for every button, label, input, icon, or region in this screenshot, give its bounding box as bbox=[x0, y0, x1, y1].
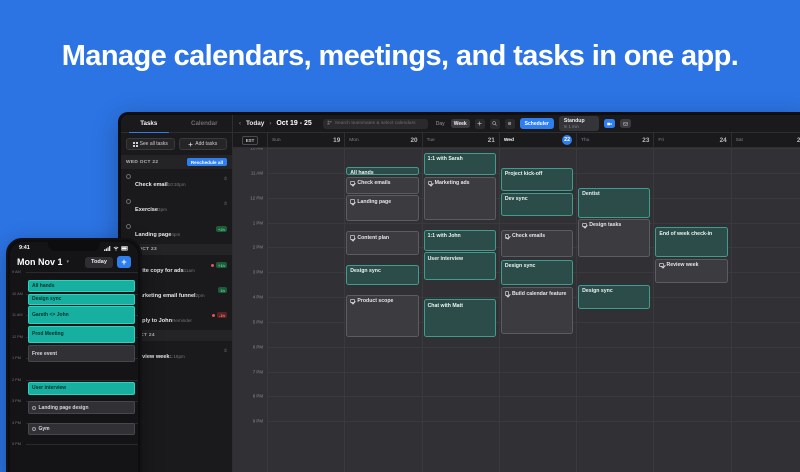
time-label: 4 PM bbox=[253, 295, 263, 300]
task-title: Marketing email funnel bbox=[135, 293, 196, 299]
task-time: 4pm bbox=[171, 232, 180, 237]
event-title: Design sync bbox=[505, 263, 536, 269]
prev-week-button[interactable]: ‹ bbox=[239, 121, 241, 127]
phone-hour-gridline bbox=[26, 272, 138, 273]
event-title: Review week bbox=[667, 262, 699, 268]
event-task-checkbox[interactable] bbox=[350, 181, 355, 186]
calendar-event[interactable]: Chat with Matt bbox=[424, 299, 496, 336]
search-input[interactable]: Search teammates & select calendars bbox=[323, 119, 428, 129]
phone-event-checkbox[interactable] bbox=[32, 427, 36, 431]
phone-event-title: Landing page design bbox=[39, 405, 89, 411]
day-number: 21 bbox=[488, 137, 495, 144]
event-task-checkbox[interactable] bbox=[582, 223, 587, 228]
task-meta: +2h bbox=[216, 226, 227, 232]
day-gridline bbox=[731, 148, 732, 472]
day-column-header[interactable]: Thu23 bbox=[576, 133, 653, 147]
task-duration-badge: +1h bbox=[216, 262, 227, 268]
task-title: Landing page bbox=[135, 232, 171, 238]
day-number: 22 bbox=[562, 135, 572, 145]
hour-gridline bbox=[267, 372, 800, 373]
search-placeholder: Search teammates & select calendars bbox=[335, 121, 416, 126]
phone-calendar-event[interactable]: Landing page design bbox=[28, 401, 135, 414]
day-name: Thu bbox=[581, 138, 589, 143]
day-number: 23 bbox=[642, 137, 649, 144]
calendar-event[interactable]: End of week check-in bbox=[655, 227, 727, 257]
signal-icon bbox=[104, 246, 111, 251]
day-gridline bbox=[344, 148, 345, 472]
event-title: Marketing ads bbox=[435, 180, 470, 186]
wifi-icon bbox=[113, 246, 119, 251]
calendar-event[interactable]: Landing page bbox=[346, 195, 418, 221]
phone-calendar-event[interactable]: Prod Meeting bbox=[28, 326, 135, 343]
phone-event-title: User interview bbox=[32, 385, 66, 391]
event-title: Project kick-off bbox=[505, 171, 542, 177]
task-item[interactable]: Landing page4pm+2h bbox=[121, 219, 232, 244]
event-title: Chat with Matt bbox=[428, 303, 463, 309]
view-toggle: Day Week bbox=[433, 119, 470, 128]
event-title: 1:1 with John bbox=[428, 233, 461, 239]
phone-time-label: 2 PM bbox=[12, 378, 21, 382]
chevron-down-icon[interactable]: ▾ bbox=[67, 259, 70, 265]
reschedule-all-button[interactable]: Reschedule all bbox=[187, 158, 227, 166]
phone-time-label: 12 PM bbox=[12, 335, 23, 339]
task-duration-badge: 1h bbox=[218, 287, 227, 293]
time-label: 12 PM bbox=[250, 195, 263, 200]
event-task-checkbox[interactable] bbox=[505, 234, 510, 239]
hour-gridline bbox=[267, 421, 800, 422]
day-column-header[interactable]: Sat25 bbox=[731, 133, 800, 147]
task-meta: ⏱ bbox=[224, 201, 227, 206]
hour-gridline bbox=[267, 223, 800, 224]
phone-calendar-event[interactable]: Design sync bbox=[28, 294, 135, 306]
task-time: 2pm bbox=[196, 293, 205, 298]
task-duration-badge: -1h bbox=[217, 312, 227, 318]
timezone-label[interactable]: EST bbox=[242, 136, 259, 145]
day-column-header[interactable]: Fri24 bbox=[653, 133, 730, 147]
day-name: Sat bbox=[736, 138, 743, 143]
day-number: 24 bbox=[720, 137, 727, 144]
hour-gridline bbox=[267, 347, 800, 348]
calendar-event[interactable]: Build calendar feature bbox=[501, 287, 573, 334]
day-name: Fri bbox=[658, 138, 664, 143]
calendar-event[interactable]: Check emails bbox=[501, 230, 573, 257]
duration-icon: ⏱ bbox=[224, 176, 227, 181]
day-column-header[interactable]: Mon20 bbox=[344, 133, 421, 147]
phone-notch bbox=[48, 242, 100, 251]
day-gridline bbox=[653, 148, 654, 472]
day-gridline bbox=[576, 148, 577, 472]
phone-time-label: 9 AM bbox=[12, 270, 21, 274]
time-label: 7 PM bbox=[253, 369, 263, 374]
calendar-event[interactable]: Design sync bbox=[578, 285, 650, 310]
event-title: Design tasks bbox=[589, 222, 621, 228]
calendar-event[interactable]: Dev sync bbox=[501, 193, 573, 217]
phone-hour-gridline bbox=[26, 444, 138, 445]
task-item[interactable]: Exercise3pm⏱ bbox=[121, 194, 232, 219]
phone-event-title: Free event bbox=[32, 351, 57, 357]
tablet-mockup: Tasks Calendar See all tasks Add tasks bbox=[118, 112, 800, 472]
join-video-button[interactable] bbox=[604, 119, 615, 128]
standup-meeting-card[interactable]: Standup In 1 min bbox=[559, 116, 599, 131]
email-button[interactable] bbox=[620, 119, 631, 128]
search-icon bbox=[492, 121, 497, 126]
day-name: Mon bbox=[349, 138, 358, 143]
see-all-tasks-button[interactable]: See all tasks bbox=[126, 138, 175, 150]
phone-calendar-event[interactable]: Gym bbox=[28, 423, 135, 436]
time-label: 11 AM bbox=[251, 170, 263, 175]
event-title: All hands bbox=[350, 170, 373, 175]
phone-hour-gridline bbox=[26, 380, 138, 381]
next-week-button[interactable]: › bbox=[269, 121, 271, 127]
calendar-event[interactable]: Design tasks bbox=[578, 219, 650, 257]
day-gridline bbox=[267, 148, 268, 472]
calendar-event[interactable]: 1:1 with John bbox=[424, 230, 496, 251]
day-number: 20 bbox=[410, 137, 417, 144]
day-gridline bbox=[499, 148, 500, 472]
task-title: Write copy for ads bbox=[135, 268, 184, 274]
grid-icon bbox=[133, 142, 138, 147]
task-item[interactable]: Check email10:30pm⏱ bbox=[121, 169, 232, 194]
task-title: Exercise bbox=[135, 207, 158, 213]
overdue-dot bbox=[211, 264, 214, 267]
calendar-event[interactable]: Check emails bbox=[346, 177, 418, 194]
phone-event-title: Gareth <> John bbox=[32, 312, 69, 318]
phone-calendar-event[interactable]: Gareth <> John bbox=[28, 306, 135, 323]
event-title: Dentist bbox=[582, 191, 600, 197]
day-name: Tue bbox=[427, 138, 435, 143]
phone-header: Mon Nov 1 ▾ Today + bbox=[10, 254, 138, 272]
phone-time-label: 1 PM bbox=[12, 356, 21, 360]
add-tasks-label: Add tasks bbox=[195, 141, 217, 147]
calendar-event[interactable]: Product scope bbox=[346, 295, 418, 337]
event-title: Dev sync bbox=[505, 196, 528, 202]
event-title: Design sync bbox=[350, 268, 381, 274]
day-gridline bbox=[422, 148, 423, 472]
phone-calendar-event[interactable]: Free event bbox=[28, 345, 135, 362]
plus-icon bbox=[188, 142, 193, 147]
phone-calendar-grid[interactable]: 9 AM10 AM11 AM12 PM1 PM2 PM3 PM4 PM5 PMA… bbox=[10, 272, 138, 457]
scheduler-button[interactable]: Scheduler bbox=[520, 118, 554, 129]
calendar-event[interactable]: Design sync bbox=[501, 260, 573, 285]
event-task-checkbox[interactable] bbox=[659, 263, 664, 268]
event-title: 1:1 with Sarah bbox=[428, 156, 463, 162]
phone-calendar-event[interactable]: User interview bbox=[28, 382, 135, 395]
view-week-button[interactable]: Week bbox=[451, 119, 470, 128]
timezone-cell: EST bbox=[233, 133, 267, 147]
task-time: 1:15pm bbox=[170, 354, 185, 359]
mail-icon bbox=[623, 122, 628, 126]
see-all-tasks-label: See all tasks bbox=[140, 141, 168, 147]
calendar-grid[interactable]: 10 AM11 AM12 PM1 PM2 PM3 PM4 PM5 PM6 PM7… bbox=[233, 148, 800, 472]
people-icon bbox=[327, 120, 332, 127]
phone-time-label: 11 AM bbox=[12, 313, 22, 317]
time-label: 8 PM bbox=[253, 394, 263, 399]
calendar-day-header: EST Sun19Mon20Tue21Wed22Thu23Fri24Sat25 bbox=[233, 133, 800, 148]
time-label: 3 PM bbox=[253, 270, 263, 275]
task-title: Check email bbox=[135, 182, 168, 188]
event-title: Build calendar feature bbox=[512, 291, 566, 297]
page-headline: Manage calendars, meetings, and tasks in… bbox=[0, 40, 800, 73]
video-icon bbox=[607, 122, 612, 126]
event-task-checkbox[interactable] bbox=[350, 299, 355, 304]
phone-event-checkbox[interactable] bbox=[32, 406, 36, 410]
day-column-header[interactable]: Sun19 bbox=[267, 133, 344, 147]
battery-icon bbox=[121, 246, 129, 251]
calendar-event[interactable]: Review week bbox=[655, 259, 727, 284]
event-title: Check emails bbox=[357, 180, 390, 186]
time-label: 2 PM bbox=[253, 245, 263, 250]
event-task-checkbox[interactable] bbox=[428, 181, 433, 186]
event-title: Design sync bbox=[582, 288, 613, 294]
standup-subtitle: In 1 min bbox=[564, 124, 594, 129]
day-name: Sun bbox=[272, 138, 281, 143]
task-checkbox[interactable] bbox=[126, 224, 131, 229]
plus-icon bbox=[477, 121, 482, 126]
day-column-header[interactable]: Wed22 bbox=[499, 133, 576, 147]
phone-event-title: Gym bbox=[39, 426, 50, 432]
phone-clock: 9:41 bbox=[19, 245, 30, 251]
phone-time-label: 3 PM bbox=[12, 399, 21, 403]
phone-status-icons bbox=[104, 246, 129, 251]
overdue-dot bbox=[212, 314, 215, 317]
task-time: 11am bbox=[184, 268, 195, 273]
today-button[interactable]: Today bbox=[246, 120, 264, 127]
duration-icon: ⏱ bbox=[224, 201, 227, 206]
phone-date-label[interactable]: Mon Nov 1 bbox=[17, 257, 63, 267]
event-title: Landing page bbox=[357, 199, 391, 205]
add-tasks-button[interactable]: Add tasks bbox=[179, 138, 228, 150]
calendar-event[interactable]: 1:1 with Sarah bbox=[424, 153, 496, 175]
task-checkbox[interactable] bbox=[126, 199, 131, 204]
hour-gridline bbox=[267, 148, 800, 149]
day-number: 19 bbox=[333, 137, 340, 144]
calendar-event[interactable]: Project kick-off bbox=[501, 168, 573, 192]
phone-time-label: 5 PM bbox=[12, 442, 21, 446]
task-meta: ⏱ bbox=[224, 176, 227, 181]
calendar-event[interactable]: User interview bbox=[424, 252, 496, 279]
phone-event-title: All hands bbox=[32, 283, 55, 289]
gear-icon bbox=[507, 121, 512, 126]
time-label: 6 PM bbox=[253, 344, 263, 349]
calendar-toolbar: ‹ Today › Oct 19 - 25 Search teammates &… bbox=[233, 115, 800, 133]
phone-add-button[interactable]: + bbox=[117, 256, 131, 268]
time-label: 9 PM bbox=[253, 419, 263, 424]
time-label: 10 AM bbox=[251, 148, 263, 151]
task-action-buttons: See all tasks Add tasks bbox=[121, 133, 232, 155]
calendar-panel: ‹ Today › Oct 19 - 25 Search teammates &… bbox=[233, 115, 800, 472]
tab-calendar[interactable]: Calendar bbox=[177, 115, 233, 132]
task-meta: +1h bbox=[211, 262, 227, 268]
settings-button[interactable] bbox=[505, 119, 515, 129]
event-title: Content plan bbox=[357, 235, 389, 241]
duration-icon: ⏱ bbox=[224, 348, 227, 353]
day-name: Wed bbox=[504, 138, 514, 143]
day-column-header[interactable]: Tue21 bbox=[422, 133, 499, 147]
date-range-label: Oct 19 - 25 bbox=[276, 120, 311, 127]
event-title: Product scope bbox=[357, 298, 393, 304]
task-time: Reminder bbox=[172, 318, 192, 323]
calendar-event[interactable]: Dentist bbox=[578, 188, 650, 218]
calendar-event[interactable]: Content plan bbox=[346, 231, 418, 255]
phone-calendar-event[interactable]: All hands bbox=[28, 280, 135, 293]
phone-today-button[interactable]: Today bbox=[85, 257, 113, 268]
event-title: Check emails bbox=[512, 233, 545, 239]
view-day-button[interactable]: Day bbox=[433, 119, 448, 128]
calendar-event[interactable]: Marketing ads bbox=[424, 177, 496, 220]
task-meta: 1h bbox=[218, 287, 227, 293]
calendar-event[interactable]: All hands bbox=[346, 167, 418, 176]
time-axis: 10 AM11 AM12 PM1 PM2 PM3 PM4 PM5 PM6 PM7… bbox=[233, 148, 267, 472]
event-task-checkbox[interactable] bbox=[505, 291, 510, 296]
task-meta: -1h bbox=[212, 312, 227, 318]
phone-event-title: Design sync bbox=[32, 296, 61, 302]
sidebar-tabs: Tasks Calendar bbox=[121, 115, 232, 133]
task-time: 3pm bbox=[158, 207, 167, 212]
task-checkbox[interactable] bbox=[126, 174, 131, 179]
phone-time-label: 4 PM bbox=[12, 421, 21, 425]
event-task-checkbox[interactable] bbox=[350, 199, 355, 204]
calendar-event[interactable]: Design sync bbox=[346, 265, 418, 285]
event-title: User interview bbox=[428, 256, 463, 262]
task-group-header: WED OCT 22Reschedule all bbox=[121, 155, 232, 169]
task-meta: ⏱ bbox=[224, 348, 227, 353]
add-event-button[interactable] bbox=[475, 119, 485, 129]
task-duration-badge: +2h bbox=[216, 226, 227, 232]
task-time: 10:30pm bbox=[168, 182, 186, 187]
time-label: 5 PM bbox=[253, 319, 263, 324]
phone-mockup: 9:41 Mon Nov 1 ▾ Today + 9 AM10 AM11 AM1… bbox=[6, 238, 142, 472]
tab-tasks[interactable]: Tasks bbox=[121, 115, 177, 132]
phone-time-label: 10 AM bbox=[12, 292, 23, 296]
phone-event-title: Prod Meeting bbox=[32, 331, 64, 337]
hour-gridline bbox=[267, 396, 800, 397]
event-title: End of week check-in bbox=[659, 231, 712, 237]
event-task-checkbox[interactable] bbox=[350, 235, 355, 240]
task-group-label: WED OCT 22 bbox=[126, 160, 158, 165]
search-button[interactable] bbox=[490, 119, 500, 129]
time-label: 1 PM bbox=[253, 220, 263, 225]
